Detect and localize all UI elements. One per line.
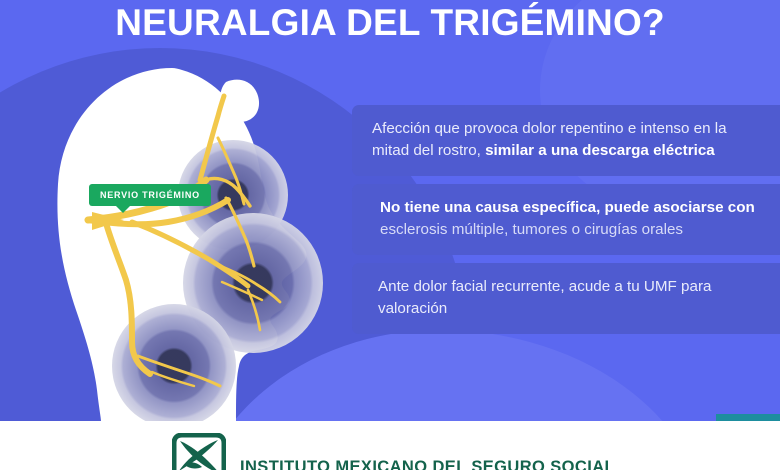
- panel-causes-lead: No tiene una causa específica, puede aso…: [380, 199, 755, 216]
- head-illustration: [40, 60, 380, 421]
- page-title: NEURALGIA DEL TRIGÉMINO?: [0, 0, 780, 50]
- fact-panel-causes: No tiene una causa específica, puede aso…: [352, 184, 780, 255]
- poster-body: NEURALGIA DEL TRIGÉMINO?: [0, 0, 780, 421]
- panel-definition-emphasis: similar a una descarga eléctrica: [485, 142, 715, 159]
- nerve-callout: NERVIO TRIGÉMINO: [89, 184, 211, 206]
- fact-panel-list: Afección que provoca dolor repentino e i…: [352, 105, 780, 342]
- teal-accent-bar: [716, 414, 780, 421]
- callout-tail-icon: [115, 205, 131, 213]
- imss-eagle-icon: [172, 433, 226, 470]
- imss-logo-text: INSTITUTO MEXICANO DEL SEGURO SOCIAL: [240, 436, 615, 470]
- footer-bar: INSTITUTO MEXICANO DEL SEGURO SOCIAL: [0, 421, 780, 470]
- fact-panel-advice: Ante dolor facial recurrente, acude a tu…: [352, 263, 780, 334]
- infographic-canvas: NEURALGIA DEL TRIGÉMINO?: [0, 0, 780, 470]
- fact-panel-definition: Afección que provoca dolor repentino e i…: [352, 105, 780, 176]
- panel-causes-soft: esclerosis múltiple, tumores o cirugías …: [380, 221, 683, 238]
- panel-advice-lead: Ante dolor facial recurrente, acude a tu…: [378, 278, 711, 317]
- imss-logo: INSTITUTO MEXICANO DEL SEGURO SOCIAL: [172, 433, 615, 470]
- nerve-callout-label: NERVIO TRIGÉMINO: [89, 184, 211, 206]
